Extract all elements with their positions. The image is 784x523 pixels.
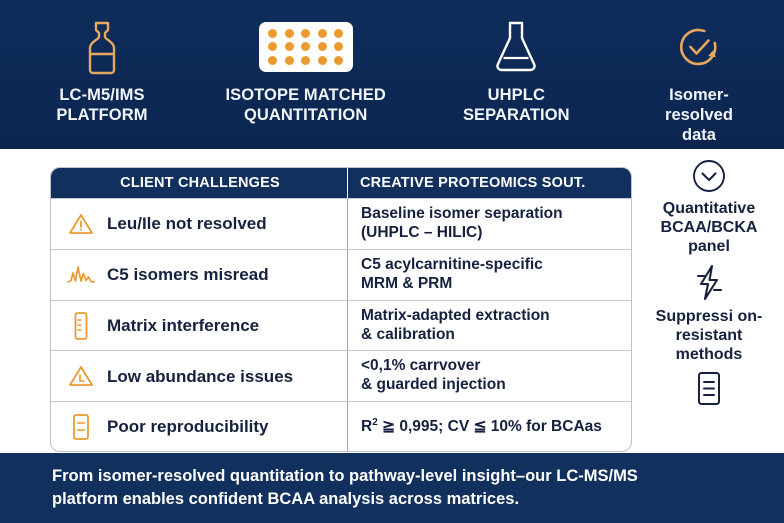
solution-text: Baseline isomer separation (UHPLC – HILI… — [361, 205, 563, 243]
bottle-icon — [82, 16, 122, 78]
table-row: Leu/Ile not resolved Baseline isomer sep… — [51, 198, 631, 249]
feature-uhplc-separation: UHPLC SEPARATION — [421, 0, 611, 125]
isotope-plate-icon — [259, 16, 353, 78]
solution-text: C5 acylcarnitine-specific MRM & PRM — [361, 256, 543, 294]
solution-suffix: ≧ 0,995; CV ≦ 10% for BCAas — [378, 418, 602, 435]
solution-text: Matrix-adapted extraction & calibration — [361, 307, 550, 345]
isotope-dot — [268, 29, 277, 38]
solution-text: <0,1% carrvover & guarded injection — [361, 357, 506, 395]
isotope-dot — [268, 56, 277, 65]
isotope-dot — [301, 56, 310, 65]
isotope-dot — [318, 56, 327, 65]
rail-label-suppression-resistant: Suppressi on- resistant methods — [656, 307, 763, 365]
isotope-dot — [285, 29, 294, 38]
footer-text: From isomer-resolved quantitation to pat… — [0, 465, 690, 511]
circle-check-icon — [690, 157, 728, 195]
challenge-cell: Matrix interference — [51, 301, 348, 351]
main-content: CLIENT CHALLENGES CREATIVE PROTEOMICS SO… — [0, 149, 784, 453]
solution-cell: R2 ≧ 0,995; CV ≦ 10% for BCAas — [348, 402, 630, 451]
rail-label-quantitative-panel: Quantitative BCAA/BCKA panel — [661, 199, 758, 257]
isotope-dot — [334, 42, 343, 51]
right-rail: Quantitative BCAA/BCKA panel Suppressi o… — [634, 153, 784, 412]
feature-label: ISOTOPE MATCHED QUANTITATION — [225, 85, 385, 125]
document-icon — [693, 370, 725, 408]
feature-label: Isomer- resolved data — [665, 85, 733, 145]
feature-isotope-quantitation: ISOTOPE MATCHED QUANTITATION — [207, 0, 405, 125]
solution-text-reproducibility: R2 ≧ 0,995; CV ≦ 10% for BCAas — [361, 417, 602, 437]
table-row: Poor reproducibility R2 ≧ 0,995; CV ≦ 10… — [51, 401, 631, 451]
isotope-dot — [301, 42, 310, 51]
table-row: C5 isomers misread C5 acylcarnitine-spec… — [51, 249, 631, 300]
challenge-cell: Leu/Ile not resolved — [51, 199, 348, 249]
isotope-dot — [318, 29, 327, 38]
challenge-cell: C5 isomers misread — [51, 250, 348, 300]
lightning-bolt-icon — [692, 263, 726, 303]
feature-lc-ms-platform: LC-M5/IMS PLATFORM — [14, 0, 190, 125]
feature-label: UHPLC SEPARATION — [463, 85, 570, 125]
solution-prefix: R — [361, 418, 372, 435]
test-tube-icon — [67, 311, 95, 341]
solution-cell: C5 acylcarnitine-specific MRM & PRM — [348, 250, 630, 300]
isotope-plate — [259, 22, 353, 72]
challenge-cell: Low abundance issues — [51, 351, 348, 401]
header-band: LC-M5/IMS PLATFORM — [0, 0, 784, 149]
isotope-dot — [301, 29, 310, 38]
feature-label: LC-M5/IMS PLATFORM — [56, 85, 147, 125]
warning-triangle-low-icon — [67, 361, 95, 391]
table-row: Matrix interference Matrix-adapted extra… — [51, 300, 631, 351]
challenge-cell: Poor reproducibility — [51, 402, 348, 451]
solution-cell: <0,1% carrvover & guarded injection — [348, 351, 630, 401]
isotope-dot — [334, 29, 343, 38]
column-header-challenges: CLIENT CHALLENGES — [51, 168, 348, 198]
challenges-solutions-table: CLIENT CHALLENGES CREATIVE PROTEOMICS SO… — [50, 167, 632, 452]
feature-row: LC-M5/IMS PLATFORM — [0, 0, 784, 149]
challenge-text: C5 isomers misread — [107, 265, 269, 285]
isotope-dot — [318, 42, 327, 51]
circular-arrow-check-icon — [672, 16, 726, 78]
table-header-row: CLIENT CHALLENGES CREATIVE PROTEOMICS SO… — [51, 168, 631, 198]
chromatogram-peak-icon — [67, 260, 95, 290]
flask-icon — [493, 16, 539, 78]
isotope-dot — [285, 56, 294, 65]
feature-isomer-resolved-data: Isomer- resolved data — [628, 0, 770, 145]
column-header-solutions: CREATIVE PROTEOMICS SOUT. — [348, 168, 630, 198]
solution-cell: Matrix-adapted extraction & calibration — [348, 301, 630, 351]
warning-triangle-icon — [67, 209, 95, 239]
isotope-dot — [285, 42, 294, 51]
isotope-dot — [268, 42, 277, 51]
challenge-text: Leu/Ile not resolved — [107, 214, 267, 234]
solution-cell: Baseline isomer separation (UHPLC – HILI… — [348, 199, 630, 249]
document-lines-icon — [67, 412, 95, 442]
footer-band: From isomer-resolved quantitation to pat… — [0, 453, 784, 523]
challenge-text: Low abundance issues — [107, 367, 293, 387]
challenge-text: Poor reproducibility — [107, 417, 269, 437]
table-row: Low abundance issues <0,1% carrvover & g… — [51, 350, 631, 401]
challenge-text: Matrix interference — [107, 316, 259, 336]
infographic-page: LC-M5/IMS PLATFORM — [0, 0, 784, 523]
isotope-dot — [334, 56, 343, 65]
